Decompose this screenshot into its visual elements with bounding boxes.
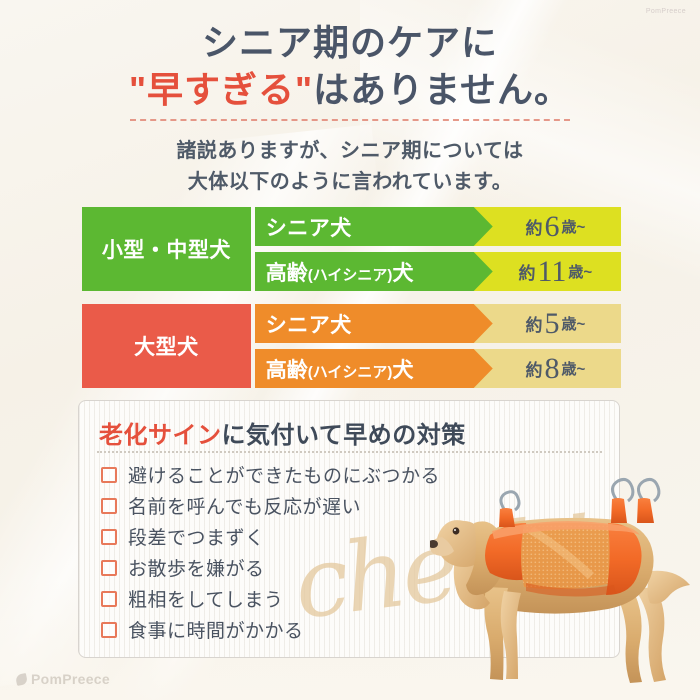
brand-logo-text: PomPreece <box>31 671 110 687</box>
headline-line-1: シニア期のケアに <box>0 20 700 65</box>
subtitle: 諸説ありますが、シニア期については 大体以下のように言われています。 <box>0 136 700 198</box>
category-label-small-medium: 小型・中型犬 <box>82 207 251 291</box>
stage-label-tail: 犬 <box>392 262 413 285</box>
stage-label-tail: 犬 <box>392 359 413 382</box>
list-item[interactable]: 避けることができたものにぶつかる <box>101 459 501 490</box>
headline-accent-text: 早すぎる <box>147 69 295 110</box>
stage-label: 高齢(ハイシニア)犬 <box>266 257 414 287</box>
category-label-large: 大型犬 <box>82 304 251 388</box>
panel-title-rest: に気付いて早めの対策 <box>222 422 466 449</box>
aging-signs-list: 避けることができたものにぶつかる 名前を呼んでも反応が遅い 段差でつまずく お散… <box>101 459 501 645</box>
list-item-label: お散歩を嫌がる <box>128 554 265 581</box>
age-value-cell: 約 11 歳~ <box>493 252 618 291</box>
table-row: 高齢(ハイシニア)犬 約 11 歳~ <box>255 252 618 291</box>
age-value-cell: 約 6 歳~ <box>493 207 618 246</box>
checkbox-icon[interactable] <box>101 529 117 545</box>
checkbox-icon[interactable] <box>101 622 117 638</box>
stage-rows-small-medium: シニア犬 約 6 歳~ 高齢(ハイシニア)犬 約 11 歳~ <box>255 207 618 291</box>
stage-label: シニア犬 <box>266 212 352 242</box>
list-item-label: 食事に時間がかかる <box>128 616 304 643</box>
stage-label-main: 高齢 <box>266 262 308 285</box>
subtitle-line-1: 諸説ありますが、シニア期については <box>0 136 700 167</box>
headline-dashed-divider <box>130 119 570 121</box>
panel-title: 老化サインに気付いて早めの対策 <box>99 415 466 450</box>
stage-label: 高齢(ハイシニア)犬 <box>266 354 414 384</box>
checkbox-icon[interactable] <box>101 467 117 483</box>
table-row: シニア犬 約 5 歳~ <box>255 304 618 343</box>
list-item-label: 粗相をしてしまう <box>128 585 283 612</box>
age-prefix: 約 <box>525 356 542 381</box>
age-number: 8 <box>542 352 561 386</box>
age-table-large: 大型犬 シニア犬 約 5 歳~ 高齢(ハイシニア)犬 約 <box>82 304 618 388</box>
age-prefix: 約 <box>519 259 536 284</box>
age-suffix: 歳~ <box>561 313 585 334</box>
watermark-top-right: PomPreece <box>646 8 686 15</box>
list-item-label: 避けることができたものにぶつかる <box>128 461 440 488</box>
checkbox-icon[interactable] <box>101 591 117 607</box>
headline-rest-text: はありません。 <box>313 69 571 110</box>
brand-logo: PomPreece <box>16 671 110 687</box>
stage-band-high-senior: 高齢(ハイシニア)犬 <box>255 252 493 291</box>
age-suffix: 歳~ <box>568 261 592 282</box>
list-item-label: 名前を呼んでも反応が遅い <box>128 492 361 519</box>
list-item[interactable]: 段差でつまずく <box>101 521 501 552</box>
stage-band-senior: シニア犬 <box>255 304 493 343</box>
age-number: 11 <box>536 255 569 289</box>
age-number: 5 <box>542 307 561 341</box>
headline: シニア期のケアに "早すぎる"はありません。 <box>0 20 700 112</box>
stage-label-main: 高齢 <box>266 359 308 382</box>
list-item[interactable]: 粗相をしてしまう <box>101 583 501 614</box>
list-item[interactable]: お散歩を嫌がる <box>101 552 501 583</box>
list-item[interactable]: 食事に時間がかかる <box>101 614 501 645</box>
stage-band-senior: シニア犬 <box>255 207 493 246</box>
headline-quote-close: " <box>295 69 313 110</box>
age-prefix: 約 <box>525 311 542 336</box>
stage-label-paren: (ハイシニア) <box>308 267 393 284</box>
headline-quote-open: " <box>129 69 147 110</box>
age-value-cell: 約 8 歳~ <box>493 349 618 388</box>
age-suffix: 歳~ <box>561 358 585 379</box>
table-row: シニア犬 約 6 歳~ <box>255 207 618 246</box>
stage-band-high-senior: 高齢(ハイシニア)犬 <box>255 349 493 388</box>
subtitle-line-2: 大体以下のように言われています。 <box>0 167 700 198</box>
checkbox-icon[interactable] <box>101 560 117 576</box>
panel-title-accent: 老化サイン <box>99 422 222 449</box>
age-prefix: 約 <box>525 214 542 239</box>
aging-signs-panel: check! 老化サインに気付いて早めの対策 避けることができたものにぶつかる … <box>78 400 620 658</box>
list-item[interactable]: 名前を呼んでも反応が遅い <box>101 490 501 521</box>
poster-canvas: PomPreece シニア期のケアに "早すぎる"はありません。 諸説ありますが… <box>0 0 700 700</box>
checkbox-icon[interactable] <box>101 498 117 514</box>
panel-title-rule <box>97 451 602 453</box>
table-row: 高齢(ハイシニア)犬 約 8 歳~ <box>255 349 618 388</box>
stage-label-paren: (ハイシニア) <box>308 364 393 381</box>
age-suffix: 歳~ <box>561 216 585 237</box>
stage-rows-large: シニア犬 約 5 歳~ 高齢(ハイシニア)犬 約 8 歳~ <box>255 304 618 388</box>
list-item-label: 段差でつまずく <box>128 523 265 550</box>
age-value-cell: 約 5 歳~ <box>493 304 618 343</box>
stage-label: シニア犬 <box>266 309 352 339</box>
age-table-small-medium: 小型・中型犬 シニア犬 約 6 歳~ 高齢(ハイシニア)犬 約 <box>82 207 618 291</box>
age-number: 6 <box>542 210 561 244</box>
headline-line-2: "早すぎる"はありません。 <box>0 67 700 112</box>
paw-icon <box>15 672 28 685</box>
